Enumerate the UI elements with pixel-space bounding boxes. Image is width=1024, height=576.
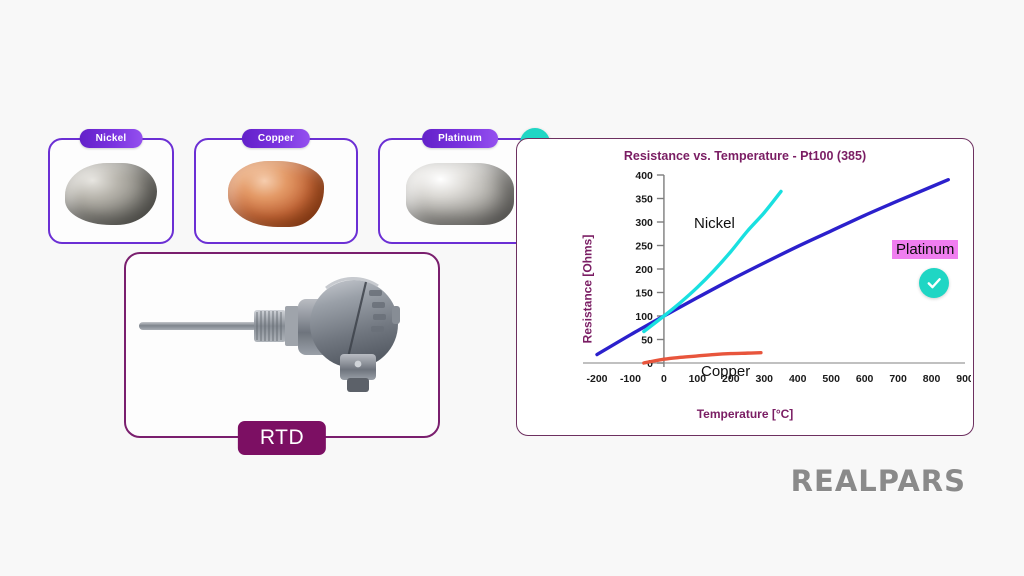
- material-card-row: Nickel Copper Platinum: [48, 138, 542, 244]
- chart-x-tick-label: 300: [756, 373, 774, 385]
- material-card-nickel[interactable]: Nickel: [48, 138, 174, 244]
- chart-x-tick-label: 500: [822, 373, 840, 385]
- nickel-rock-image: [65, 163, 157, 225]
- chart-y-tick-label: 250: [635, 241, 653, 253]
- chart-plot-area: 050100150200250300350400-200-10001002003…: [541, 167, 971, 397]
- chart-x-tick-label: 800: [923, 373, 941, 385]
- chart-y-tick-label: 300: [635, 217, 653, 229]
- chart-x-tick-label: 600: [856, 373, 874, 385]
- rtd-probe-icon: [126, 254, 438, 436]
- rtd-label: RTD: [238, 421, 326, 455]
- chart-svg: 050100150200250300350400-200-10001002003…: [541, 167, 971, 397]
- platinum-check-circle-icon: [919, 268, 949, 298]
- chart-x-tick-label: -200: [586, 373, 607, 385]
- platinum-rock-image: [406, 163, 514, 225]
- chart-y-tick-label: 150: [635, 288, 653, 300]
- chart-x-axis-label: Temperature [°C]: [517, 407, 973, 421]
- series-annotation-copper: Copper: [701, 363, 750, 380]
- chart-series-copper: [644, 353, 761, 363]
- chart-y-tick-label: 350: [635, 194, 653, 206]
- series-annotation-nickel: Nickel: [694, 215, 735, 232]
- chart-y-tick-label: 100: [635, 311, 653, 323]
- chart-x-tick-label: -100: [620, 373, 641, 385]
- material-card-copper[interactable]: Copper: [194, 138, 358, 244]
- chart-x-tick-label: 700: [889, 373, 907, 385]
- chart-x-tick-label: 900: [956, 373, 971, 385]
- chart-x-tick-label: 400: [789, 373, 807, 385]
- series-annotation-platinum: Platinum: [892, 240, 958, 259]
- chart-y-tick-label: 400: [635, 170, 653, 182]
- chart-title: Resistance vs. Temperature - Pt100 (385): [517, 149, 973, 163]
- realpars-logo: REALPARS: [791, 464, 966, 498]
- chart-y-tick-label: 200: [635, 264, 653, 276]
- material-label-platinum: Platinum: [422, 129, 498, 148]
- chart-x-tick-label: 0: [661, 373, 667, 385]
- rtd-sensor-panel: RTD: [124, 252, 440, 438]
- chart-y-tick-label: 50: [641, 335, 653, 347]
- resistance-temperature-chart-panel: Resistance vs. Temperature - Pt100 (385)…: [516, 138, 974, 436]
- material-label-nickel: Nickel: [80, 129, 143, 148]
- copper-rock-image: [228, 161, 324, 227]
- material-label-copper: Copper: [242, 129, 310, 148]
